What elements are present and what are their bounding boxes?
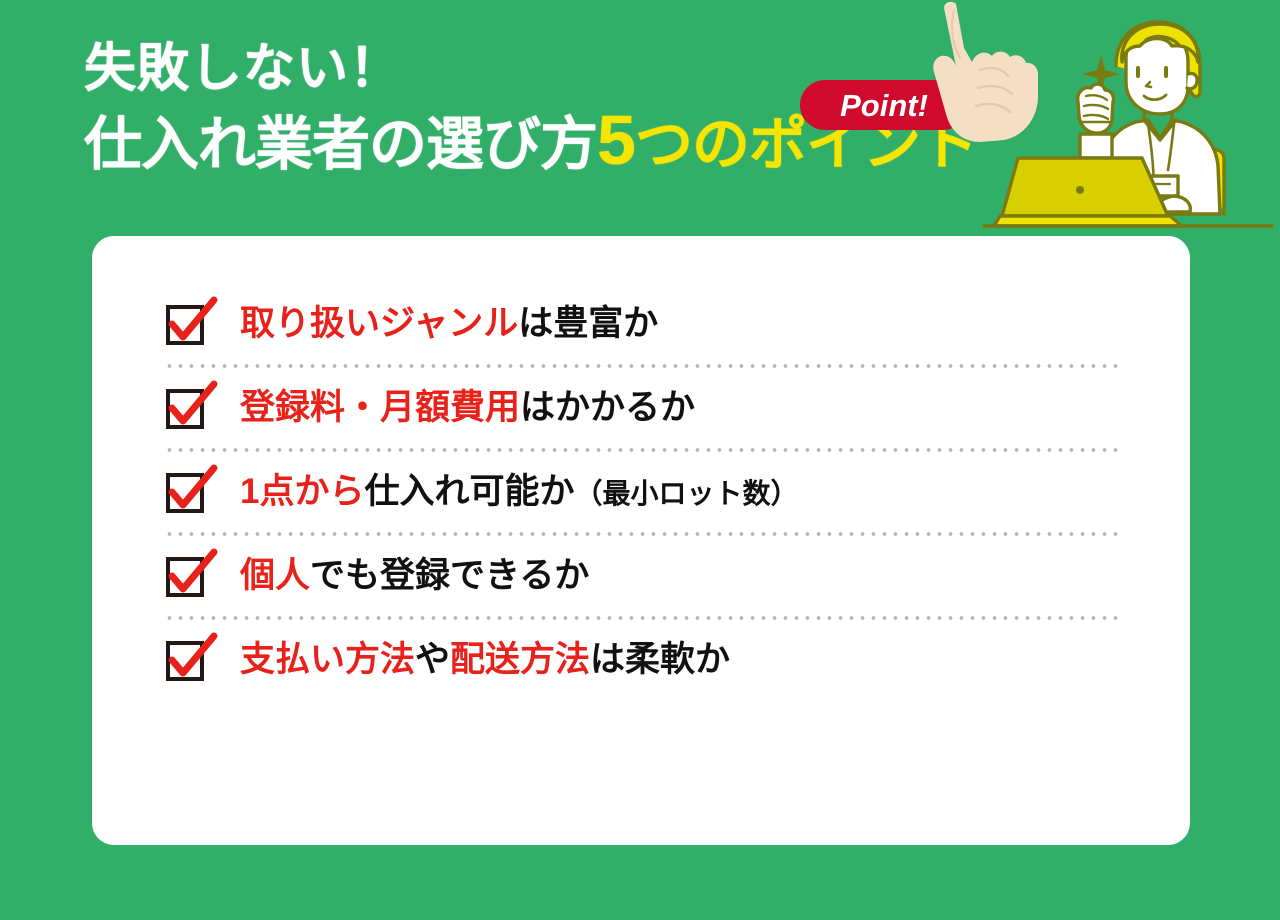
- checklist-item[interactable]: 取り扱いジャンルは豊富か: [164, 284, 1124, 364]
- label-segment: 個人: [240, 556, 310, 595]
- point-badge: Point!: [800, 80, 968, 130]
- infographic-canvas: 失敗しない！ 仕入れ業者の選び方5つのポイント Point!: [0, 0, 1280, 920]
- check-mark-icon: [164, 382, 216, 434]
- checkbox-checked-icon[interactable]: [164, 386, 208, 430]
- check-mark-icon: [164, 550, 216, 602]
- checkbox-checked-icon[interactable]: [164, 470, 208, 514]
- checklist-item-label: 1点から仕入れ可能か（最小ロット数）: [240, 473, 799, 512]
- checklist-item[interactable]: 個人でも登録できるか: [164, 536, 1124, 616]
- check-mark-icon: [164, 634, 216, 686]
- label-segment: でも登録できるか: [310, 556, 589, 595]
- check-mark-icon: [164, 466, 216, 518]
- label-segment: はかかるか: [520, 388, 695, 427]
- checklist-item[interactable]: 登録料・月額費用はかかるか: [164, 368, 1124, 448]
- checklist-item[interactable]: 1点から仕入れ可能か（最小ロット数）: [164, 452, 1124, 532]
- checkbox-checked-icon[interactable]: [164, 302, 208, 346]
- label-segment: は柔軟か: [590, 640, 730, 679]
- checklist-item-label: 個人でも登録できるか: [240, 557, 589, 596]
- checklist-item-label: 支払い方法や配送方法は柔軟か: [240, 641, 730, 680]
- label-segment: 1点から: [240, 472, 364, 511]
- checklist-card: 取り扱いジャンルは豊富か登録料・月額費用はかかるか1点から仕入れ可能か（最小ロッ…: [92, 236, 1190, 845]
- label-segment: 仕入れ可能か: [364, 472, 574, 511]
- point-badge-label: Point!: [840, 90, 928, 121]
- title-white-segment: 仕入れ業者の選び方: [84, 112, 597, 177]
- label-segment: や: [415, 640, 450, 679]
- checkbox-checked-icon[interactable]: [164, 554, 208, 598]
- label-segment: 支払い方法: [240, 640, 415, 679]
- checklist-item-label: 取り扱いジャンルは豊富か: [240, 305, 658, 344]
- label-segment: 取り扱いジャンル: [240, 304, 518, 343]
- sparkle-icon: [1082, 55, 1120, 93]
- header-banner: 失敗しない！ 仕入れ業者の選び方5つのポイント Point!: [0, 0, 1280, 236]
- checkbox-checked-icon[interactable]: [164, 638, 208, 682]
- check-mark-icon: [164, 298, 216, 350]
- title-number-five: 5: [597, 101, 635, 179]
- checklist-item-label: 登録料・月額費用はかかるか: [240, 389, 695, 428]
- label-segment: 登録料・月額費用: [240, 388, 520, 427]
- label-segment: は豊富か: [518, 304, 658, 343]
- checklist: 取り扱いジャンルは豊富か登録料・月額費用はかかるか1点から仕入れ可能か（最小ロッ…: [164, 284, 1124, 700]
- label-segment: （最小ロット数）: [574, 478, 798, 509]
- label-segment: 配送方法: [450, 640, 590, 679]
- checklist-item[interactable]: 支払い方法や配送方法は柔軟か: [164, 620, 1124, 700]
